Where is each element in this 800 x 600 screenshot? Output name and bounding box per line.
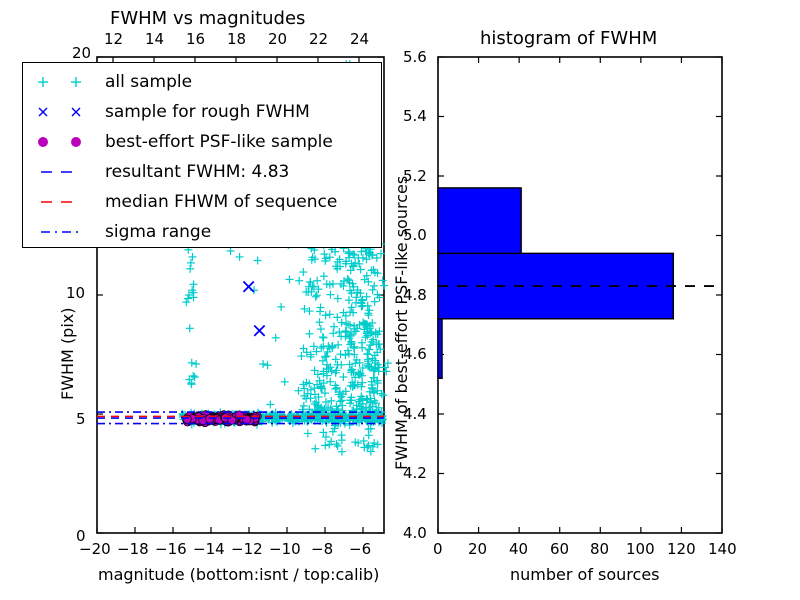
legend-entry-median-fwhm: median FHWM of sequence: [29, 187, 381, 217]
figure-canvas: FWHM vs magnitudes 12 14 16 18 20 22 24 …: [0, 0, 800, 600]
legend-label-psf-sample: best-effort PSF-like sample: [105, 132, 333, 152]
legend-entry-all-sample: all sample: [29, 67, 381, 97]
legend-entry-rough-sample: sample for rough FWHM: [29, 97, 381, 127]
legend-label-all-sample: all sample: [105, 72, 192, 92]
legend-marker-cross-icon: [29, 97, 105, 127]
histogram-bars: [438, 188, 673, 378]
legend-label-resultant-fwhm: resultant FWHM: 4.83: [105, 162, 289, 182]
histogram-panel: histogram of FWHM 5.6 5.4 5.2 5.0 4.8 4.…: [400, 0, 800, 600]
legend-marker-dashed-red-icon: [29, 187, 105, 217]
legend-marker-plus-icon: [29, 67, 105, 97]
legend-entry-sigma-range: sigma range: [29, 217, 381, 247]
legend-entry-resultant-fwhm: resultant FWHM: 4.83: [29, 157, 381, 187]
scatter-bottom-ticks: [97, 527, 363, 533]
legend-label-median-fwhm: median FHWM of sequence: [105, 192, 337, 212]
legend-label-sigma-range: sigma range: [105, 222, 211, 242]
legend-label-rough-sample: sample for rough FWHM: [105, 102, 310, 122]
legend-marker-dashed-blue-icon: [29, 157, 105, 187]
legend-marker-circle-icon: [29, 127, 105, 157]
legend-entry-psf-sample: best-effort PSF-like sample: [29, 127, 381, 157]
scatter-panel: FWHM vs magnitudes 12 14 16 18 20 22 24 …: [0, 0, 400, 600]
scatter-legend: all sample sample for rough FWHM: [22, 62, 382, 248]
legend-marker-dashdot-icon: [29, 217, 105, 247]
histogram-plot-area: [400, 0, 800, 600]
